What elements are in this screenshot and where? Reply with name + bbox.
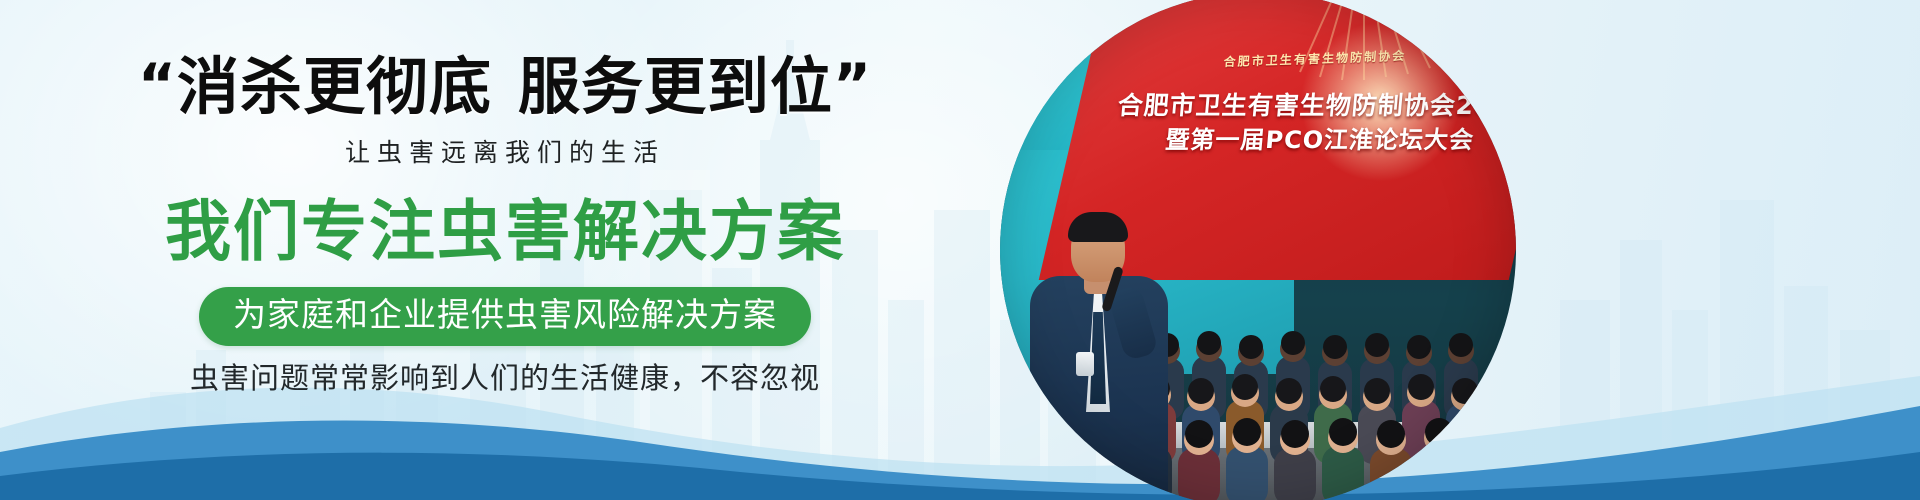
headline-open-quote: “ [138,51,177,119]
headline-close-quote: ” [833,51,872,119]
photo-vignette [1000,0,1516,500]
sub-headline: 让虫害远离我们的生活 [345,140,665,165]
headline-part-1: 消杀更彻底 [177,50,492,123]
conference-photo-circle: 合肥市卫生有害生物防制协会 合肥市卫生有害生物防制协会2023 暨第一届PCO江… [1000,0,1516,500]
copy-block: “消杀更彻底服务更到位” 让虫害远离我们的生活 我们专注虫害解决方案 为家庭和企… [0,0,1010,500]
conference-photo-wrap: 合肥市卫生有害生物防制协会 合肥市卫生有害生物防制协会2023 暨第一届PCO江… [1000,0,1520,500]
headline: “消杀更彻底服务更到位” [138,56,872,118]
promo-banner: “消杀更彻底服务更到位” 让虫害远离我们的生活 我们专注虫害解决方案 为家庭和企… [0,0,1920,500]
highlight-pill: 为家庭和企业提供虫害风险解决方案 [199,287,811,346]
main-title: 我们专注虫害解决方案 [165,199,845,265]
footer-note: 虫害问题常常影响到人们的生活健康，不容忽视 [190,364,820,393]
headline-part-2: 服务更到位 [518,50,833,123]
